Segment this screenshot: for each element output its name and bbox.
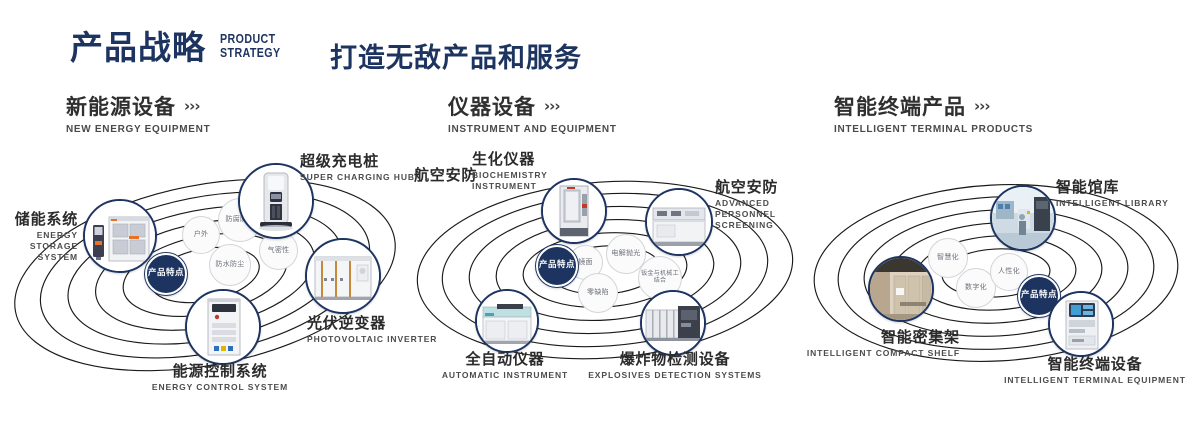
caption-intelligent-compact-shelf: 智能密集架 INTELLIGENT COMPACT SHELF bbox=[800, 328, 960, 359]
section-header-intelligent-terminal: 智能终端产品››› INTELLIGENT TERMINAL PRODUCTS bbox=[834, 94, 1033, 135]
caption-cn: 航空安防 bbox=[414, 166, 477, 184]
intelligent-library-photo bbox=[992, 187, 1054, 249]
caption-cn: 全自动仪器 bbox=[415, 350, 595, 368]
section-title-en: INTELLIGENT TERMINAL PRODUCTS bbox=[834, 124, 1033, 135]
section-header-instrument: 仪器设备››› INSTRUMENT AND EQUIPMENT bbox=[448, 94, 617, 135]
intelligent-compact-shelf-photo bbox=[870, 258, 932, 320]
page-title: 产品战略 bbox=[70, 28, 206, 68]
caption-en: EXPLOSIVES DETECTION SYSTEMS bbox=[580, 370, 770, 381]
product-features-badge: 产品特点 bbox=[536, 245, 578, 287]
cluster-intelligent-terminal: 智慧化 数字化 人性化 产品特点 智能馆库 IN bbox=[800, 150, 1200, 410]
caption-explosives-detection: 爆炸物检测设备 EXPLOSIVES DETECTION SYSTEMS bbox=[580, 350, 770, 381]
section-title-cn: 新能源设备››› bbox=[66, 94, 210, 119]
node-automatic-instrument[interactable] bbox=[475, 289, 539, 353]
node-energy-storage[interactable] bbox=[83, 199, 157, 273]
feature-bubble: 防水防尘 bbox=[209, 244, 251, 286]
caption-personnel-screening: 航空安防 ADVANCED PERSONNEL SCREENING bbox=[715, 178, 807, 231]
cluster-instrument: 镜面 电解抛光 零缺陷 钣金与机械工结合 产品特点 航空安防 生化仪器 BIOC… bbox=[400, 150, 810, 410]
caption-en: INTELLIGENT LIBRARY bbox=[1056, 198, 1169, 209]
caption-cn: 智能馆库 bbox=[1056, 178, 1169, 196]
section-title-cn: 智能终端产品››› bbox=[834, 94, 1033, 119]
caption-en: SUPER CHARGING HUB bbox=[300, 172, 415, 183]
caption-cn: 储能系统 bbox=[0, 210, 78, 228]
caption-cn: 智能终端设备 bbox=[990, 355, 1200, 373]
caption-cn: 超级充电桩 bbox=[300, 152, 415, 170]
chevrons-icon: ››› bbox=[184, 94, 200, 118]
node-personnel-screening[interactable] bbox=[645, 188, 713, 256]
caption-super-charging-hub: 超级充电桩 SUPER CHARGING HUB bbox=[300, 152, 415, 183]
page-header: 产品战略 PRODUCT STRATEGY 打造无敌产品和服务 bbox=[0, 0, 1200, 86]
chevrons-icon: ››› bbox=[974, 94, 990, 118]
brand-subtitle-line1: PRODUCT bbox=[220, 32, 286, 46]
feature-bubble: 零缺陷 bbox=[578, 273, 618, 313]
section-title-cn: 仪器设备››› bbox=[448, 94, 617, 119]
caption-energy-control-system: 能源控制系统 ENERGY CONTROL SYSTEM bbox=[90, 362, 350, 393]
node-intelligent-terminal-equipment[interactable] bbox=[1048, 291, 1114, 357]
caption-cn: 能源控制系统 bbox=[90, 362, 350, 380]
caption-aviation-security-left: 航空安防 bbox=[414, 166, 477, 184]
section-title-en: INSTRUMENT AND EQUIPMENT bbox=[448, 124, 617, 135]
caption-en: AUTOMATIC INSTRUMENT bbox=[415, 370, 595, 381]
caption-cn: 航空安防 bbox=[715, 178, 807, 196]
caption-cn: 爆炸物检测设备 bbox=[580, 350, 770, 368]
caption-intelligent-library: 智能馆库 INTELLIGENT LIBRARY bbox=[1056, 178, 1169, 209]
personnel-screening-machine-photo bbox=[647, 190, 711, 254]
feature-bubble: 户外 bbox=[182, 216, 220, 254]
poster-canvas: 产品战略 PRODUCT STRATEGY 打造无敌产品和服务 新能源设备›››… bbox=[0, 0, 1200, 422]
node-biochemistry-instrument[interactable] bbox=[541, 178, 607, 244]
energy-storage-cabinet-photo bbox=[85, 201, 155, 271]
caption-en: ENERGY STORAGE SYSTEM bbox=[0, 230, 78, 263]
caption-en: ADVANCED PERSONNEL SCREENING bbox=[715, 198, 807, 231]
caption-biochemistry-instrument: 生化仪器 BIOCHEMISTRY INSTRUMENT bbox=[472, 150, 544, 192]
caption-cn: 智能密集架 bbox=[800, 328, 960, 346]
section-title-en: NEW ENERGY EQUIPMENT bbox=[66, 124, 210, 135]
caption-cn: 生化仪器 bbox=[472, 150, 544, 168]
chevrons-icon: ››› bbox=[544, 94, 560, 118]
caption-en: BIOCHEMISTRY INSTRUMENT bbox=[472, 170, 544, 192]
node-intelligent-library[interactable] bbox=[990, 185, 1056, 251]
automatic-instrument-photo bbox=[477, 291, 537, 351]
biochemistry-instrument-photo bbox=[543, 180, 605, 242]
caption-en: ENERGY CONTROL SYSTEM bbox=[90, 382, 350, 393]
cluster-new-energy: 户外 防腐防锈 防水防尘 气密性 产品特点 bbox=[0, 150, 410, 410]
node-intelligent-compact-shelf[interactable] bbox=[868, 256, 934, 322]
brand-subtitle-line2: STRATEGY bbox=[220, 46, 286, 60]
intelligent-terminal-kiosk-photo bbox=[1050, 293, 1112, 355]
photovoltaic-inverter-photo bbox=[307, 240, 379, 312]
caption-en: INTELLIGENT TERMINAL EQUIPMENT bbox=[990, 375, 1200, 386]
node-energy-control-system[interactable] bbox=[185, 289, 261, 365]
caption-intelligent-terminal-equipment: 智能终端设备 INTELLIGENT TERMINAL EQUIPMENT bbox=[990, 355, 1200, 386]
section-header-new-energy: 新能源设备››› NEW ENERGY EQUIPMENT bbox=[66, 94, 210, 135]
node-photovoltaic-inverter[interactable] bbox=[305, 238, 381, 314]
energy-control-cabinet-photo bbox=[187, 291, 259, 363]
caption-energy-storage: 储能系统 ENERGY STORAGE SYSTEM bbox=[0, 210, 78, 263]
node-explosives-detection[interactable] bbox=[640, 290, 706, 356]
headline: 打造无敌产品和服务 bbox=[330, 36, 582, 75]
caption-automatic-instrument: 全自动仪器 AUTOMATIC INSTRUMENT bbox=[415, 350, 595, 381]
explosives-detection-system-photo bbox=[642, 292, 704, 354]
caption-en: INTELLIGENT COMPACT SHELF bbox=[800, 348, 960, 359]
brand-subtitle-en: PRODUCT STRATEGY bbox=[220, 32, 286, 60]
